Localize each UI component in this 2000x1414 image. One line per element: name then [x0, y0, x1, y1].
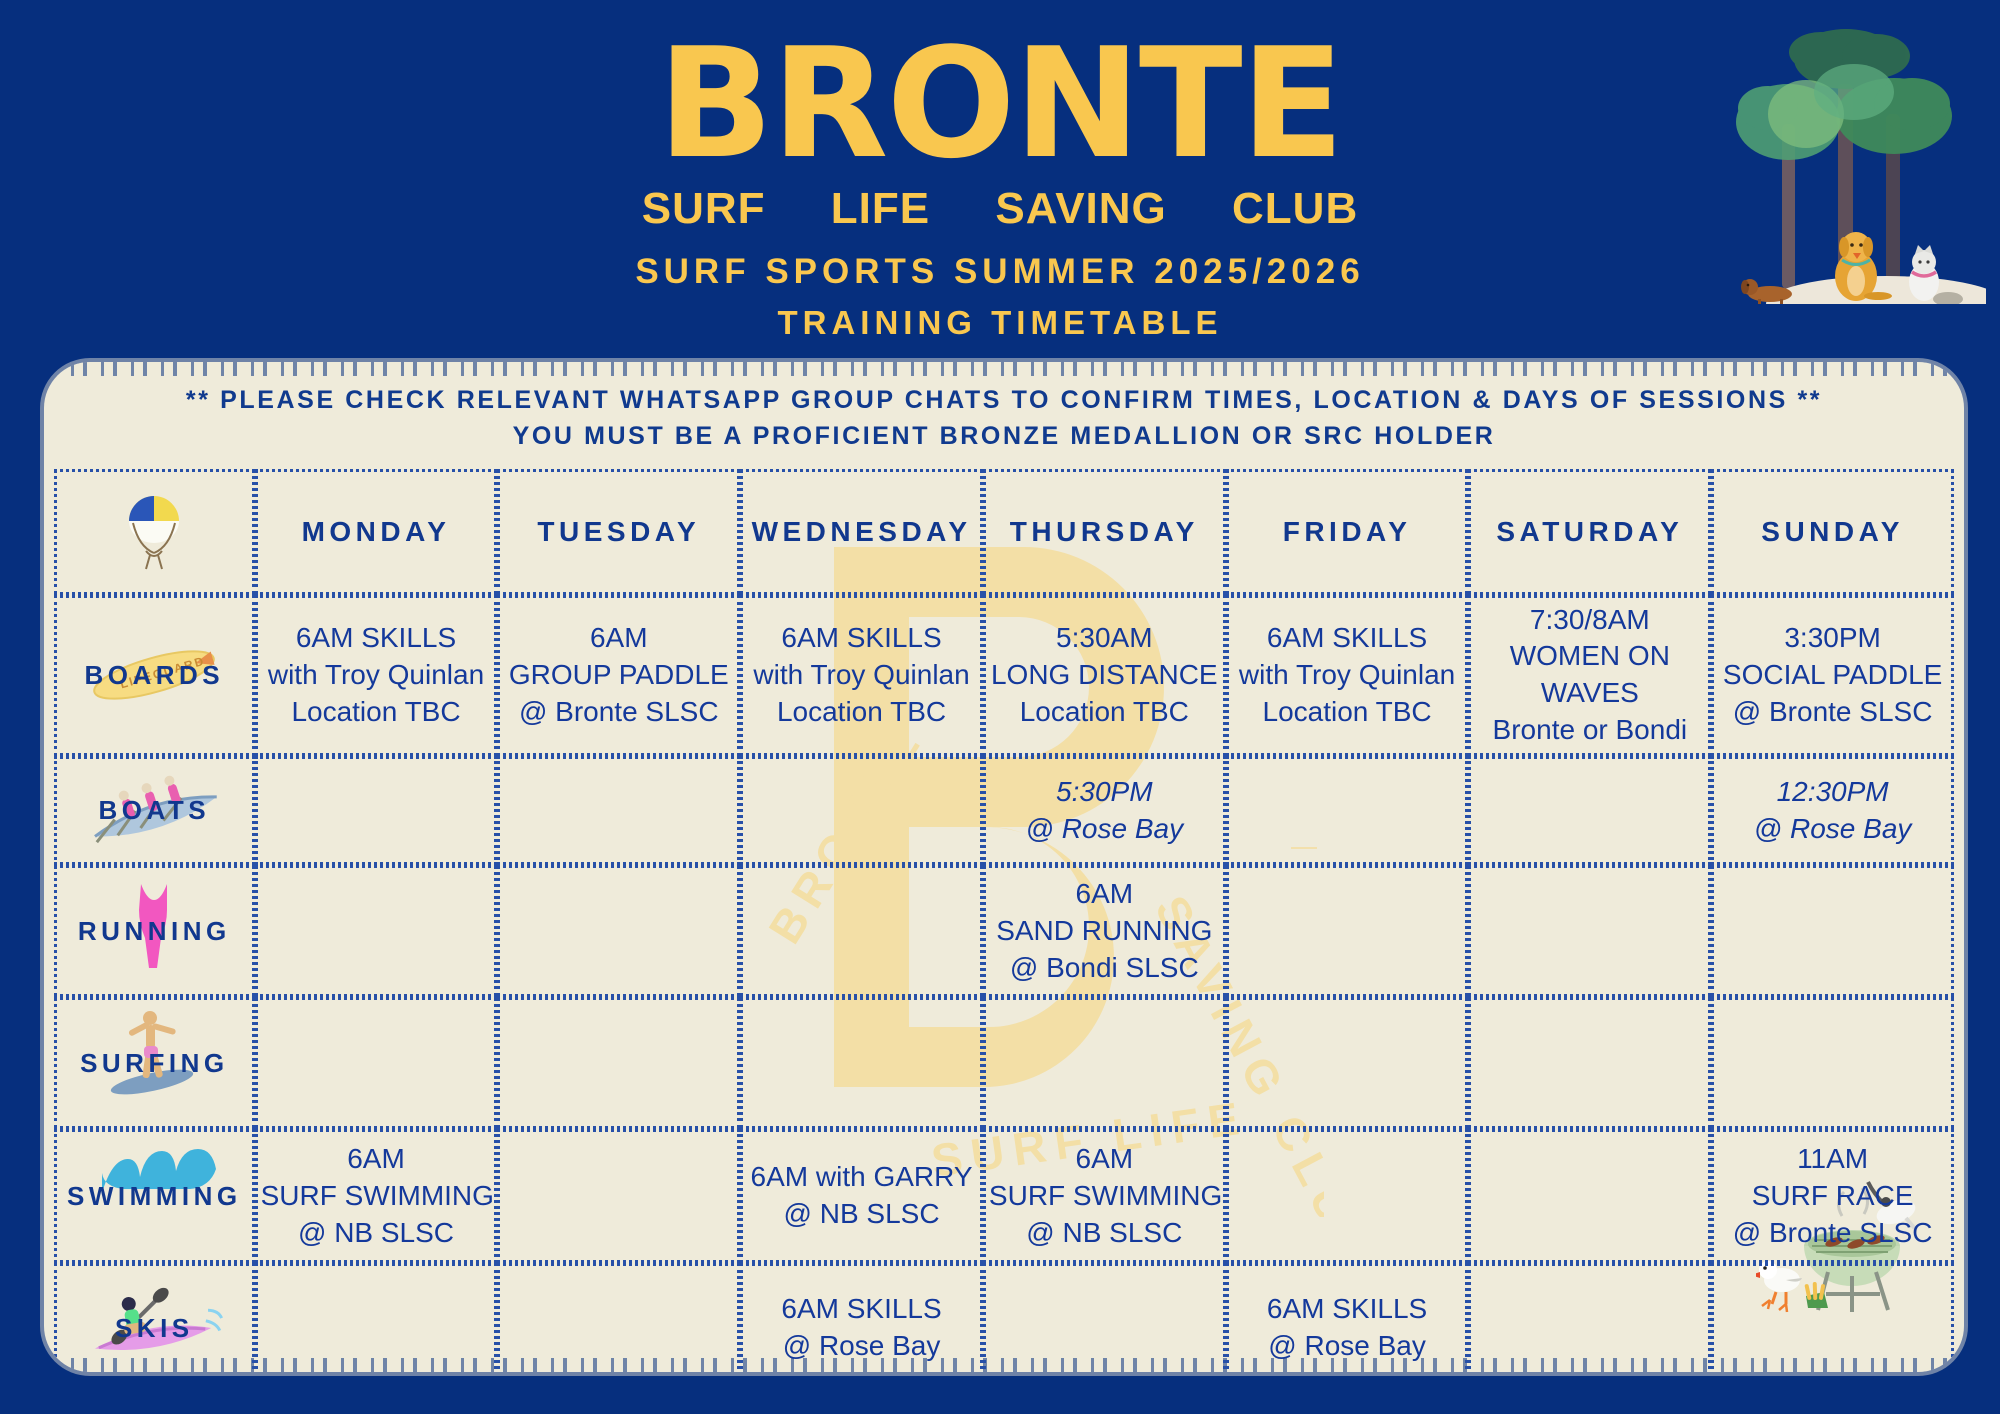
cell-surfing-friday: [1226, 997, 1469, 1129]
row-label-skis: SKIS: [54, 1263, 255, 1372]
table-row-skis: SKIS 6AM SKILLS@ Rose Bay 6AM SKILLS@ Ro…: [54, 1263, 1954, 1372]
cell-boats-tuesday: [497, 756, 740, 865]
table-row-boats: BOATS 5:30PM@ Rose Bay 12:30PM@ Rose Bay: [54, 756, 1954, 865]
club-subtitle-word-surf: SURF: [642, 184, 766, 234]
row-label-swimming: SWIMMING: [54, 1129, 255, 1263]
row-label-text-swimming: SWIMMING: [67, 1181, 242, 1212]
cell-boards-thursday: 5:30AMLONG DISTANCELocation TBC: [983, 595, 1226, 757]
cell-surfing-saturday: [1468, 997, 1711, 1129]
club-wordmark: BRONTE: [0, 0, 2000, 180]
cell-boards-wednesday: 6AM SKILLSwith Troy QuinlanLocation TBC: [740, 595, 983, 757]
cell-skis-friday: 6AM SKILLS@ Rose Bay: [1226, 1263, 1469, 1372]
timetable-panel: BRONTE SAVING CLUB SURF LIFE ** PLEASE C…: [44, 362, 1964, 1372]
club-subtitle-word-life: LIFE: [831, 184, 930, 234]
day-header-friday: FRIDAY: [1226, 469, 1469, 595]
day-header-thursday: THURSDAY: [983, 469, 1226, 595]
white-pet-icon: [1909, 245, 1939, 301]
club-subtitle: SURF LIFE SAVING CLUB: [0, 184, 2000, 234]
notes-block: ** PLEASE CHECK RELEVANT WHATSAPP GROUP …: [44, 362, 1964, 455]
cell-boats-saturday: [1468, 756, 1711, 865]
day-header-sunday: SUNDAY: [1711, 469, 1954, 595]
cell-running-monday: [255, 865, 498, 997]
cell-boats-thursday: 5:30PM@ Rose Bay: [983, 756, 1226, 865]
surf-cap-icon: [119, 485, 189, 573]
day-header-saturday: SATURDAY: [1468, 469, 1711, 595]
cell-boats-friday: [1226, 756, 1469, 865]
cell-running-sunday: [1711, 865, 1954, 997]
cell-skis-saturday: [1468, 1263, 1711, 1372]
cell-boards-tuesday: 6AMGROUP PADDLE@ Bronte SLSC: [497, 595, 740, 757]
row-label-running: RUNNING: [54, 865, 255, 997]
row-label-boats: BOATS: [54, 756, 255, 865]
cell-surfing-sunday: [1711, 997, 1954, 1129]
cell-boats-monday: [255, 756, 498, 865]
row-label-text-skis: SKIS: [115, 1313, 194, 1344]
cell-boards-sunday: 3:30PMSOCIAL PADDLE@ Bronte SLSC: [1711, 595, 1954, 757]
cell-skis-monday: [255, 1263, 498, 1372]
palm-trees-with-dogs-illustration: [1726, 4, 1986, 304]
cell-swimming-thursday: 6AMSURF SWIMMING@ NB SLSC: [983, 1129, 1226, 1263]
row-label-surfing: SURFING: [54, 997, 255, 1129]
cell-boats-wednesday: [740, 756, 983, 865]
row-label-text-surfing: SURFING: [80, 1048, 229, 1079]
cell-skis-thursday: [983, 1263, 1226, 1372]
row-label-text-boards: BOARDS: [84, 660, 224, 691]
cell-swimming-saturday: [1468, 1129, 1711, 1263]
cell-running-saturday: [1468, 865, 1711, 997]
table-row-boards: LIFEGUARD BOARDS 6AM SKILLSwith Troy Qui…: [54, 595, 1954, 757]
cell-running-friday: [1226, 865, 1469, 997]
cell-skis-sunday: [1711, 1263, 1954, 1372]
cell-swimming-wednesday: 6AM with GARRY@ NB SLSC: [740, 1129, 983, 1263]
row-label-boards: LIFEGUARD BOARDS: [54, 595, 255, 757]
surf-cap-icon-cell: [54, 469, 255, 595]
training-timetable: MONDAY TUESDAY WEDNESDAY THURSDAY FRIDAY…: [54, 469, 1954, 1373]
cell-boards-monday: 6AM SKILLSwith Troy QuinlanLocation TBC: [255, 595, 498, 757]
table-row-surfing: SURFING: [54, 997, 1954, 1129]
day-header-tuesday: TUESDAY: [497, 469, 740, 595]
club-subtitle-word-club: CLUB: [1232, 184, 1358, 234]
club-subtitle-word-saving: SAVING: [995, 184, 1166, 234]
cell-running-wednesday: [740, 865, 983, 997]
cell-swimming-monday: 6AMSURF SWIMMING@ NB SLSC: [255, 1129, 498, 1263]
cell-running-thursday: 6AMSAND RUNNING@ Bondi SLSC: [983, 865, 1226, 997]
row-label-text-running: RUNNING: [78, 916, 231, 947]
day-header-wednesday: WEDNESDAY: [740, 469, 983, 595]
table-row-swimming: SWIMMING 6AMSURF SWIMMING@ NB SLSC 6AM w…: [54, 1129, 1954, 1263]
cell-running-tuesday: [497, 865, 740, 997]
cell-skis-tuesday: [497, 1263, 740, 1372]
cell-swimming-sunday: 11AMSURF RACE@ Bronte SLSC: [1711, 1129, 1954, 1263]
note-line-whatsapp: ** PLEASE CHECK RELEVANT WHATSAPP GROUP …: [44, 382, 1964, 418]
cell-swimming-tuesday: [497, 1129, 740, 1263]
cell-surfing-tuesday: [497, 997, 740, 1129]
note-line-qualification: YOU MUST BE A PROFICIENT BRONZE MEDALLIO…: [44, 418, 1964, 454]
cell-surfing-wednesday: [740, 997, 983, 1129]
table-row-running: RUNNING 6AMSAND RUNNING@ Bondi SLSC: [54, 865, 1954, 997]
cell-boats-sunday: 12:30PM@ Rose Bay: [1711, 756, 1954, 865]
day-header-monday: MONDAY: [255, 469, 498, 595]
cell-boards-saturday: 7:30/8AMWOMEN ONWAVESBronte or Bondi: [1468, 595, 1711, 757]
cell-skis-wednesday: 6AM SKILLS@ Rose Bay: [740, 1263, 983, 1372]
page-header: BRONTE SURF LIFE SAVING CLUB SURF SPORTS…: [0, 0, 2000, 365]
table-header-row: MONDAY TUESDAY WEDNESDAY THURSDAY FRIDAY…: [54, 469, 1954, 595]
cell-boards-friday: 6AM SKILLSwith Troy QuinlanLocation TBC: [1226, 595, 1469, 757]
row-label-text-boats: BOATS: [99, 795, 211, 826]
cell-surfing-thursday: [983, 997, 1226, 1129]
document-type-label: TRAINING TIMETABLE: [0, 304, 2000, 342]
season-label: SURF SPORTS SUMMER 2025/2026: [0, 252, 2000, 292]
cell-surfing-monday: [255, 997, 498, 1129]
cell-swimming-friday: [1226, 1129, 1469, 1263]
